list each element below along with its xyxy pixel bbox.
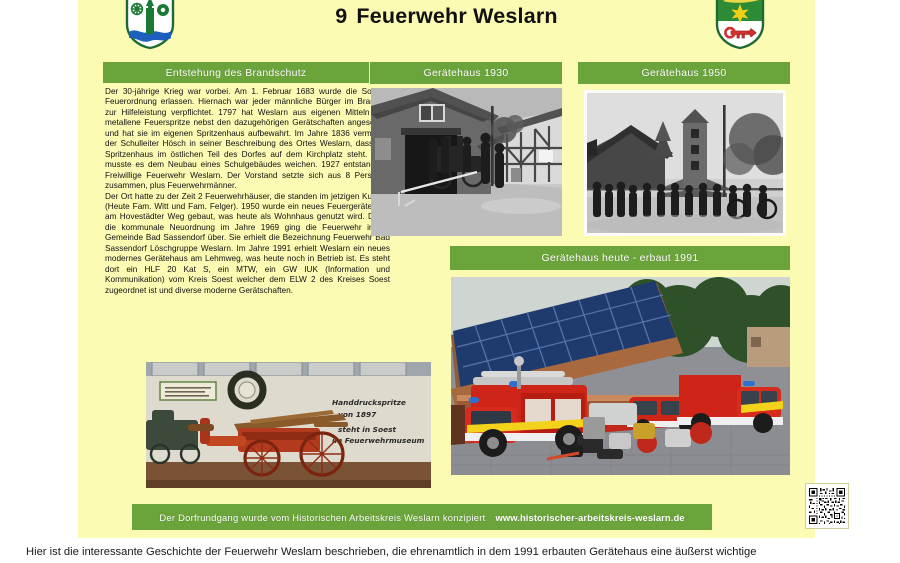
section-header-geraetehaus-1930-label: Gerätehaus 1930	[424, 67, 509, 79]
footer-text: Der Dorfrundgang wurde vom Historischen …	[159, 512, 485, 523]
section-header-brandschutz-label: Entstehung des Brandschutz	[166, 67, 307, 79]
spritze-caption-line-1: Handdruckspritze	[332, 398, 406, 407]
page-number: 9	[335, 4, 347, 28]
footer-bar: Der Dorfrundgang wurde vom Historischen …	[132, 504, 712, 530]
section-header-geraetehaus-1950: Gerätehaus 1950	[578, 62, 790, 84]
qr-code[interactable]	[805, 483, 849, 529]
photo-geraetehaus-1930	[371, 88, 562, 236]
page-caption: Hier ist die interessante Geschichte der…	[26, 546, 882, 559]
info-poster: 9Feuerwehr Weslarn Entstehung des Brands…	[78, 0, 815, 538]
spritze-caption-line-4: im Feuerwehrmuseum	[332, 436, 425, 445]
photo-handdruckspritze: Handdruckspritze von 1897 steht in Soest…	[146, 362, 431, 488]
history-paragraph-1: Der 30-jährige Krieg war vorbei. Am 1. F…	[105, 87, 390, 192]
section-header-geraetehaus-heute: Gerätehaus heute - erbaut 1991	[450, 246, 790, 270]
section-header-geraetehaus-1950-label: Gerätehaus 1950	[642, 67, 727, 79]
section-header-geraetehaus-heute-label: Gerätehaus heute - erbaut 1991	[542, 252, 699, 264]
history-text: Der 30-jährige Krieg war vorbei. Am 1. F…	[105, 87, 390, 296]
screenshot-root: 9Feuerwehr Weslarn Entstehung des Brands…	[0, 0, 900, 563]
photo-geraetehaus-1950	[584, 90, 786, 236]
photo-geraetehaus-heute	[451, 277, 790, 475]
footer-url[interactable]: www.historischer-arbeitskreis-weslarn.de	[495, 512, 684, 523]
section-header-geraetehaus-1930: Gerätehaus 1930	[370, 62, 562, 84]
section-header-brandschutz: Entstehung des Brandschutz	[103, 62, 369, 83]
page-title-text: Feuerwehr Weslarn	[356, 4, 557, 28]
page-title: 9Feuerwehr Weslarn	[78, 4, 815, 29]
history-paragraph-2: Der Ort hatte zu der Zeit 2 Feuerwehrhäu…	[105, 192, 390, 297]
